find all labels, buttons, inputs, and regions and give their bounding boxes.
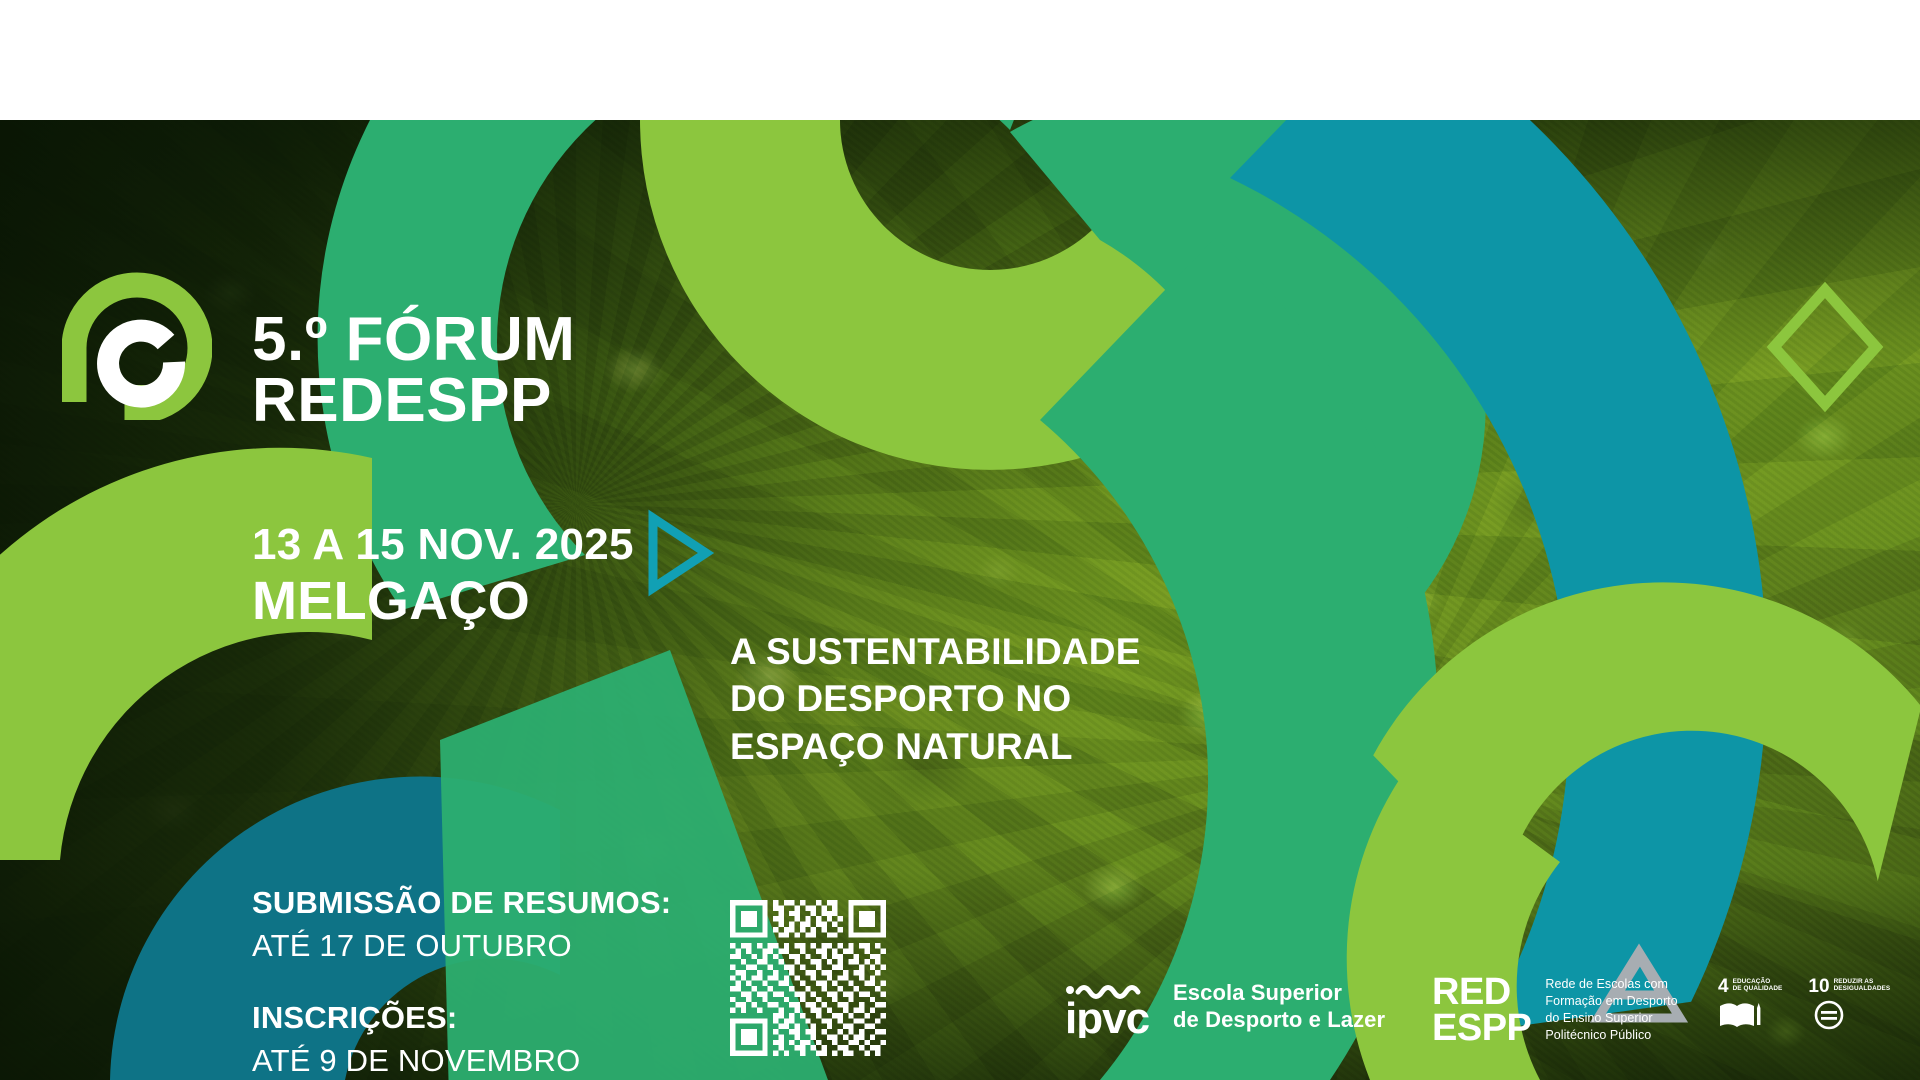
book-pencil-icon bbox=[1718, 1000, 1762, 1030]
sdg-10-head: 10 REDUZIR AS DESIGUALDADES bbox=[1808, 978, 1890, 995]
top-white-strip bbox=[0, 0, 1920, 120]
event-city: MELGAÇO bbox=[252, 570, 530, 632]
sdg-10-label: REDUZIR AS DESIGUALDADES bbox=[1834, 978, 1891, 992]
deadline-abstracts: SUBMISSÃO DE RESUMOS: ATÉ 17 DE OUTUBRO bbox=[252, 885, 671, 964]
svg-text:ipvc: ipvc bbox=[1065, 994, 1150, 1038]
sdg-4-number: 4 bbox=[1718, 978, 1729, 995]
poster-artwork: 5.º FÓRUM REDESPP 13 A 15 NOV. 2025 MELG… bbox=[0, 120, 1920, 1080]
poster-text-layer: 5.º FÓRUM REDESPP 13 A 15 NOV. 2025 MELG… bbox=[0, 120, 1920, 1080]
event-theme: A SUSTENTABILIDADE DO DESPORTO NO ESPAÇO… bbox=[730, 628, 1250, 770]
sdg-10: 10 REDUZIR AS DESIGUALDADES bbox=[1808, 978, 1890, 1030]
deadline-abstracts-label: SUBMISSÃO DE RESUMOS: bbox=[252, 885, 671, 921]
ipvc-wordmark-icon: ipvc bbox=[1065, 976, 1157, 1038]
sdg-10-number: 10 bbox=[1808, 978, 1829, 995]
redespp-logo: RED ESPP Rede de Escolas com Formação em… bbox=[1432, 974, 1678, 1046]
ipvc-logo: ipvc Escola Superior de Desporto e Lazer bbox=[1065, 976, 1385, 1038]
footer-logos: ipvc Escola Superior de Desporto e Lazer… bbox=[0, 972, 1920, 1058]
sdg-4-label: EDUCAÇÃO DE QUALIDADE bbox=[1733, 978, 1783, 992]
redespp-description: Rede de Escolas com Formação em Desporto… bbox=[1545, 976, 1677, 1045]
sdg-4: 4 EDUCAÇÃO DE QUALIDADE bbox=[1718, 978, 1782, 1030]
poster-root: 5.º FÓRUM REDESPP 13 A 15 NOV. 2025 MELG… bbox=[0, 0, 1920, 1080]
sdg-badges: 4 EDUCAÇÃO DE QUALIDADE 10 REDUZIR AS DE… bbox=[1718, 978, 1890, 1030]
redespp-wordmark: RED ESPP bbox=[1432, 974, 1531, 1046]
event-title: 5.º FÓRUM REDESPP bbox=[252, 310, 575, 432]
event-dates: 13 A 15 NOV. 2025 bbox=[252, 520, 634, 570]
deadline-abstracts-value: ATÉ 17 DE OUTUBRO bbox=[252, 928, 671, 964]
ipvc-school-name: Escola Superior de Desporto e Lazer bbox=[1173, 980, 1385, 1034]
sdg-4-head: 4 EDUCAÇÃO DE QUALIDADE bbox=[1718, 978, 1782, 995]
equals-circle-icon bbox=[1808, 1000, 1852, 1030]
